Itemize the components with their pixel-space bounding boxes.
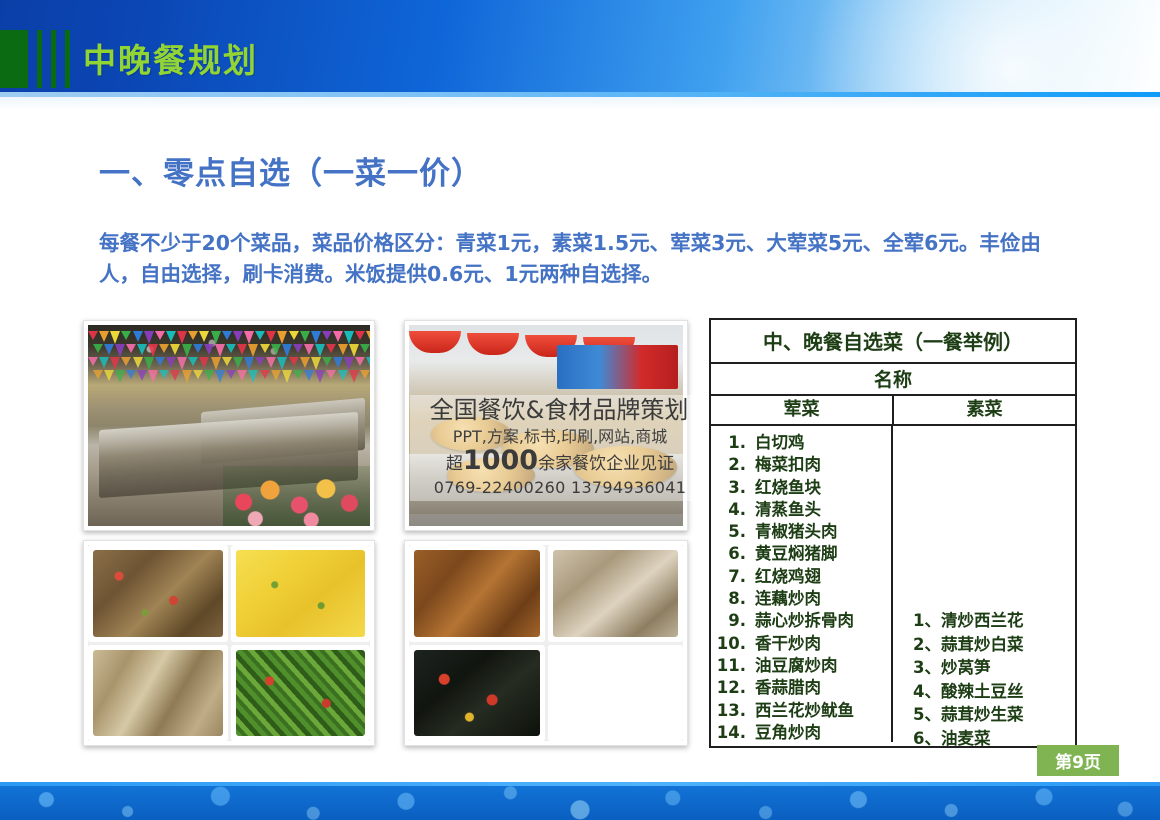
meat-dish-number: 9. [711,610,755,632]
slide-footer [0,782,1160,820]
meat-dish-number: 7. [711,566,755,588]
meat-dish-item: 10.香干炒肉 [711,633,891,655]
meat-dish-number: 2. [711,454,755,476]
meat-dish-number: 3. [711,477,755,499]
meat-dish-name: 豆角炒肉 [755,722,821,744]
counter-banner [557,345,678,389]
serving-counter-photo [404,320,688,531]
meat-dish-item: 8.连藕炒肉 [711,588,891,610]
menu-table-column-headers: 荤菜 素菜 [711,396,1075,426]
meat-dish-item: 5.青椒猪头肉 [711,521,891,543]
header-fade [0,97,1160,111]
menu-table-title: 中、晚餐自选菜（一餐举例） [711,320,1075,364]
meat-dish-item: 2.梅菜扣肉 [711,454,891,476]
meat-dish-number: 6. [711,543,755,565]
meat-dish-cell: 1.白切鸡2.梅菜扣肉3.红烧鱼块4.清蒸鱼头5.青椒猪头肉6.黄豆焖猪脚7.红… [711,426,893,742]
meat-dish-number: 4. [711,499,755,521]
meat-dish-name: 连藕炒肉 [755,588,821,610]
footer-bokeh-texture [0,786,1160,820]
meat-dish-number: 1. [711,432,755,454]
meat-dish-number: 10. [711,633,755,655]
meat-dish-name: 梅菜扣肉 [755,454,821,476]
meat-dish-item: 3.红烧鱼块 [711,477,891,499]
meat-dish-number: 13. [711,700,755,722]
meat-dish-number: 8. [711,588,755,610]
meat-dish-item: 1.白切鸡 [711,432,891,454]
meat-dish-name: 香蒜腊肉 [755,677,821,699]
meat-dish-number: 12. [711,677,755,699]
page-number-badge: 第9页 [1037,745,1119,776]
flag-bunting-icon [88,329,370,387]
column-header-vegetable: 素菜 [894,396,1075,424]
meat-dish-name: 红烧鸡翅 [755,566,821,588]
meat-dish-item: 7.红烧鸡翅 [711,566,891,588]
meat-dish-number: 14. [711,722,755,744]
meat-dish-name: 青椒猪头肉 [755,521,838,543]
meat-dish-name: 黄豆焖猪脚 [755,543,838,565]
meat-dish-name: 清蒸鱼头 [755,499,821,521]
meat-dish-name: 油豆腐炒肉 [755,655,838,677]
meat-dish-number: 5. [711,521,755,543]
header-decoration-bars [0,30,70,88]
vegetable-dish-item: 1、清炒西兰花 [913,609,1023,633]
vegetable-dish-item: 5、蒜茸炒生菜 [913,703,1023,727]
vegetable-dish-item: 2、蒜茸炒白菜 [913,633,1023,657]
meat-dish-item: 6.黄豆焖猪脚 [711,543,891,565]
meat-dish-item: 9.蒜心炒拆骨肉 [711,610,891,632]
meat-dish-name: 红烧鱼块 [755,477,821,499]
menu-table-subtitle: 名称 [711,364,1075,396]
menu-table: 中、晚餐自选菜（一餐举例） 名称 荤菜 素菜 1.白切鸡2.梅菜扣肉3.红烧鱼块… [709,318,1077,748]
vegetable-dish-item: 4、酸辣土豆丝 [913,680,1023,704]
vegetable-dish-list: 1、清炒西兰花2、蒜茸炒白菜3、炒莴笋4、酸辣土豆丝5、蒜茸炒生菜6、油麦菜 [913,609,1023,750]
cafeteria-hall-photo [83,320,375,531]
section-paragraph: 每餐不少于20个菜品，菜品价格区分：青菜1元，素菜1.5元、荤菜3元、大荤菜5元… [99,228,1059,290]
meat-dish-item: 11.油豆腐炒肉 [711,655,891,677]
column-header-meat: 荤菜 [711,396,894,424]
slide-canvas: 中晚餐规划 一、零点自选（一菜一价） 每餐不少于20个菜品，菜品价格区分：青菜1… [0,0,1160,820]
meat-dish-item: 13.西兰花炒鱿鱼 [711,700,891,722]
slide-header: 中晚餐规划 [0,0,1160,96]
meat-dish-list: 1.白切鸡2.梅菜扣肉3.红烧鱼块4.清蒸鱼头5.青椒猪头肉6.黄豆焖猪脚7.红… [711,432,891,744]
vegetable-dish-item: 3、炒莴笋 [913,656,1023,680]
vegetable-dish-cell: 1、清炒西兰花2、蒜茸炒白菜3、炒莴笋4、酸辣土豆丝5、蒜茸炒生菜6、油麦菜 [893,426,1075,742]
page-title: 中晚餐规划 [83,39,258,83]
meat-dish-item: 4.清蒸鱼头 [711,499,891,521]
meat-dish-name: 白切鸡 [755,432,805,454]
dishes-tray-photo-1 [83,540,375,746]
meat-dish-item: 12.香蒜腊肉 [711,677,891,699]
section-heading: 一、零点自选（一菜一价） [99,148,483,193]
meat-dish-name: 西兰花炒鱿鱼 [755,700,854,722]
meat-dish-name: 香干炒肉 [755,633,821,655]
dishes-tray-photo-2 [404,540,688,746]
vegetable-dish-item: 6、油麦菜 [913,727,1023,751]
header-sheen-glow [800,0,1160,96]
flower-display-icon [223,466,370,526]
deco-block-icon [0,30,28,88]
deco-bar-3-icon [65,30,70,88]
meat-dish-item: 14.豆角炒肉 [711,722,891,744]
meat-dish-number: 11. [711,655,755,677]
meat-dish-name: 蒜心炒拆骨肉 [755,610,854,632]
